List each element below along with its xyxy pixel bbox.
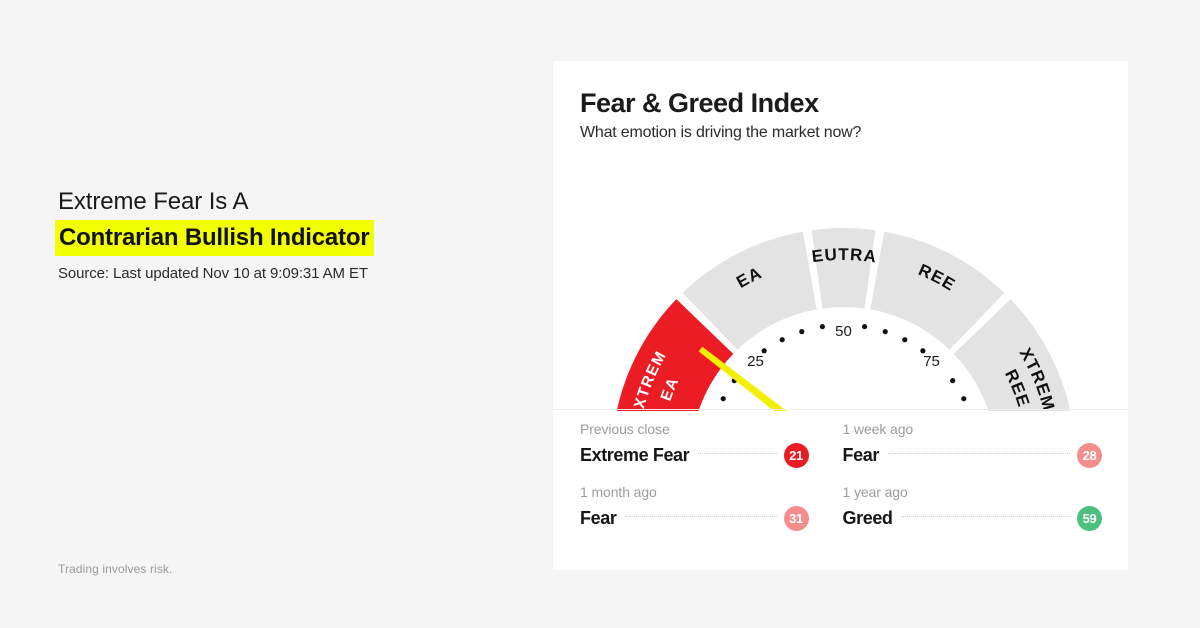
headline-line-2-highlighted: Contrarian Bullish Indicator [55, 220, 374, 256]
source-timestamp: Source: Last updated Nov 10 at 9:09:31 A… [58, 265, 368, 282]
stat-value-badge: 28 [1077, 443, 1102, 468]
stat-sentiment-label: Greed [843, 508, 893, 529]
stat-value-badge: 31 [784, 506, 809, 531]
gauge-svg: EXTREMEFEARFEARNEUTRALGREEDEXTREMEGREED … [553, 101, 1128, 411]
stat-value-badge: 21 [784, 443, 809, 468]
gauge-tick-dot [862, 324, 867, 329]
left-panel: Extreme Fear Is A Contrarian Bullish Ind… [0, 0, 553, 628]
gauge-tick-dot [950, 378, 955, 383]
gauge-tick-dot [721, 396, 726, 401]
stat-one-month-ago: 1 month ago Fear 31 [553, 484, 841, 547]
gauge-tick-dot [961, 396, 966, 401]
risk-disclaimer: Trading involves risk. [58, 562, 172, 576]
stat-leader-dots [888, 452, 1070, 454]
gauge-segment-neutral [812, 228, 876, 308]
gauge-scale-number: 25 [747, 353, 764, 370]
stat-leader-dots [902, 515, 1070, 517]
stat-previous-close: Previous close Extreme Fear 21 [553, 421, 841, 484]
stat-sentiment-label: Fear [580, 508, 616, 529]
stat-period-label: 1 year ago [843, 484, 1103, 500]
gauge-tick-dot [883, 329, 888, 334]
fear-greed-card: Fear & Greed Index What emotion is drivi… [553, 61, 1128, 570]
stat-row: Greed 59 [843, 504, 1103, 532]
gauge-scale-number: 75 [923, 353, 940, 370]
stat-leader-dots [698, 452, 776, 454]
headline-block: Extreme Fear Is A Contrarian Bullish Ind… [58, 186, 488, 256]
stat-one-week-ago: 1 week ago Fear 28 [841, 421, 1129, 484]
stat-sentiment-label: Extreme Fear [580, 445, 689, 466]
stat-period-label: Previous close [580, 421, 809, 437]
fear-greed-gauge: EXTREMEFEARFEARNEUTRALGREEDEXTREMEGREED … [553, 101, 1128, 411]
stat-row: Fear 28 [843, 441, 1103, 469]
stat-value-badge: 59 [1077, 506, 1102, 531]
gauge-tick-dot [820, 324, 825, 329]
historical-stats-grid: Previous close Extreme Fear 21 1 week ag… [553, 421, 1128, 547]
stat-row: Fear 31 [580, 504, 809, 532]
stat-period-label: 1 week ago [843, 421, 1103, 437]
gauge-segment-label: EXTREME [553, 101, 670, 411]
stat-period-label: 1 month ago [580, 484, 809, 500]
gauge-tick-dot [780, 337, 785, 342]
card-divider [553, 409, 1128, 410]
gauge-tick-dot [799, 329, 804, 334]
stat-row: Extreme Fear 21 [580, 441, 809, 469]
stat-one-year-ago: 1 year ago Greed 59 [841, 484, 1129, 547]
gauge-scale-number: 50 [835, 323, 852, 340]
headline-line-1: Extreme Fear Is A [58, 186, 488, 217]
stat-leader-dots [625, 515, 776, 517]
stat-sentiment-label: Fear [843, 445, 879, 466]
gauge-tick-dot [902, 337, 907, 342]
